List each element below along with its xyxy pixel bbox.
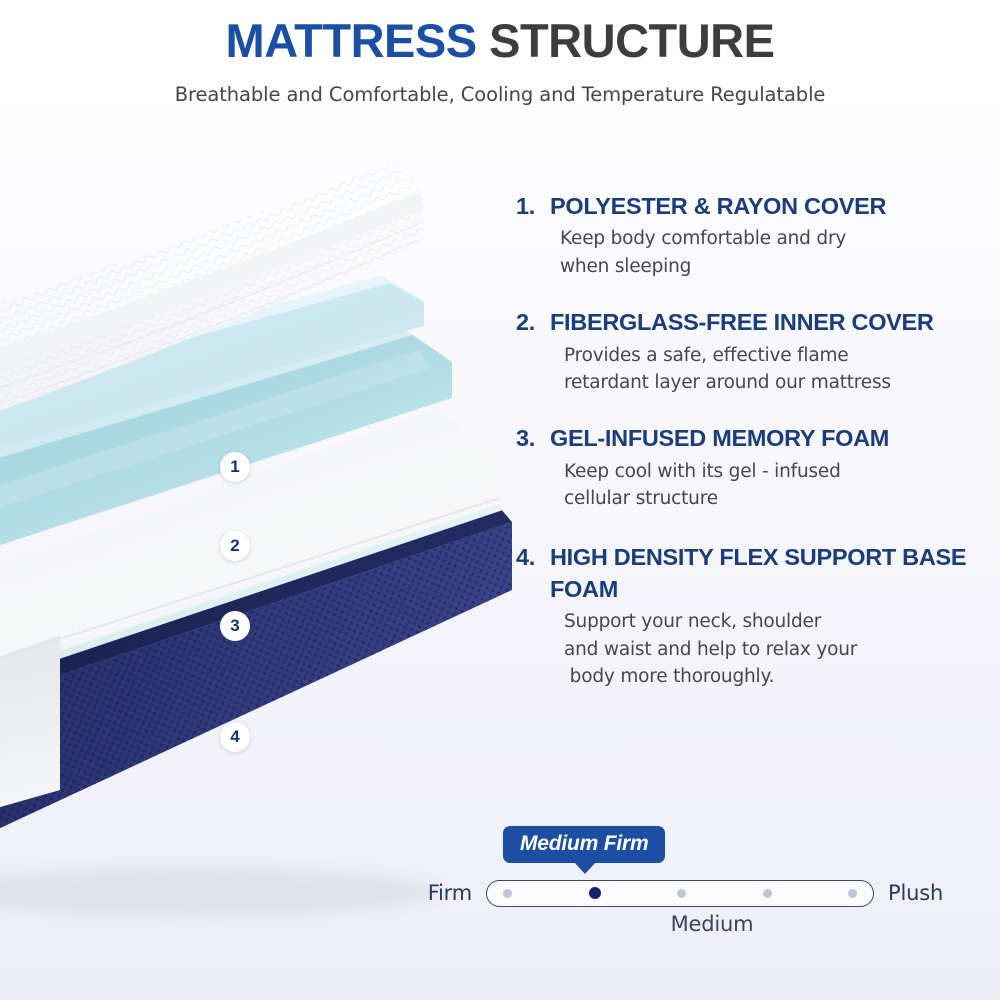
firmness-tooltip: Medium Firm [503, 826, 665, 863]
feature-item-2: 2. FIBERGLASS-FREE INNER COVER Provides … [516, 306, 986, 396]
feature-number-2: 2. [516, 306, 550, 338]
callout-badge-1[interactable]: 1 [220, 452, 250, 482]
feature-item-1: 1. POLYESTER & RAYON COVER Keep body com… [516, 190, 986, 280]
callout-badge-2[interactable]: 2 [220, 531, 250, 561]
feature-description-4: Support your neck, shoulder and waist an… [564, 608, 986, 690]
callout-badge-3[interactable]: 3 [220, 611, 250, 641]
feature-description-3: Keep cool with its gel - infused cellula… [564, 458, 986, 513]
feature-desc-line: cellular structure [564, 485, 986, 512]
title-secondary: STRUCTURE [489, 14, 774, 67]
feature-desc-line: when sleeping [560, 253, 986, 280]
page-title: MATTRESS STRUCTURE [0, 16, 1000, 67]
firmness-label-firm: Firm [400, 881, 486, 905]
page-subtitle: Breathable and Comfortable, Cooling and … [0, 83, 1000, 106]
feature-description-1: Keep body comfortable and dry when sleep… [560, 225, 986, 280]
title-primary: MATTRESS [226, 14, 477, 67]
firmness-step-5[interactable] [848, 889, 857, 898]
feature-desc-line: body more thoroughly. [564, 663, 986, 690]
firmness-step-1[interactable] [503, 889, 512, 898]
feature-desc-line: Provides a safe, effective flame [564, 342, 986, 369]
feature-desc-line: Keep body comfortable and dry [560, 225, 986, 252]
feature-description-2: Provides a safe, effective flame retarda… [564, 342, 986, 397]
firmness-step-2-selected[interactable] [589, 887, 601, 899]
feature-number-4: 4. [516, 541, 550, 573]
page-header: MATTRESS STRUCTURE Breathable and Comfor… [0, 0, 1000, 106]
feature-number-3: 3. [516, 422, 550, 454]
firmness-slider-track[interactable] [486, 880, 874, 907]
firmness-label-medium: Medium [400, 912, 960, 936]
callout-badge-4[interactable]: 4 [220, 722, 250, 752]
feature-item-4: 4. HIGH DENSITY FLEX SUPPORT BASE FOAM S… [516, 541, 986, 691]
feature-title-3: GEL-INFUSED MEMORY FOAM [550, 422, 986, 454]
firmness-step-3[interactable] [677, 889, 686, 898]
feature-desc-line: Keep cool with its gel - infused [564, 458, 986, 485]
feature-heading-3: 3. GEL-INFUSED MEMORY FOAM [516, 422, 986, 454]
feature-heading-2: 2. FIBERGLASS-FREE INNER COVER [516, 306, 986, 338]
firmness-label-plush: Plush [874, 881, 943, 905]
feature-desc-line: and waist and help to relax your [564, 636, 986, 663]
feature-heading-1: 1. POLYESTER & RAYON COVER [516, 190, 986, 222]
firmness-step-4[interactable] [763, 889, 772, 898]
feature-title-2: FIBERGLASS-FREE INNER COVER [550, 306, 986, 338]
feature-title-1: POLYESTER & RAYON COVER [550, 190, 986, 222]
firmness-slider-row: Firm Plush [400, 876, 960, 910]
feature-item-3: 3. GEL-INFUSED MEMORY FOAM Keep cool wit… [516, 422, 986, 512]
infographic-page: MATTRESS STRUCTURE Breathable and Comfor… [0, 0, 1000, 1000]
feature-desc-line: retardant layer around our mattress [564, 369, 986, 396]
feature-list: 1. POLYESTER & RAYON COVER Keep body com… [516, 190, 986, 710]
feature-title-4: HIGH DENSITY FLEX SUPPORT BASE FOAM [550, 541, 986, 606]
feature-heading-4: 4. HIGH DENSITY FLEX SUPPORT BASE FOAM [516, 541, 986, 606]
feature-desc-line: Support your neck, shoulder [564, 608, 986, 635]
feature-number-1: 1. [516, 190, 550, 222]
firmness-scale: Medium Firm Firm Plush Medium [400, 826, 960, 946]
